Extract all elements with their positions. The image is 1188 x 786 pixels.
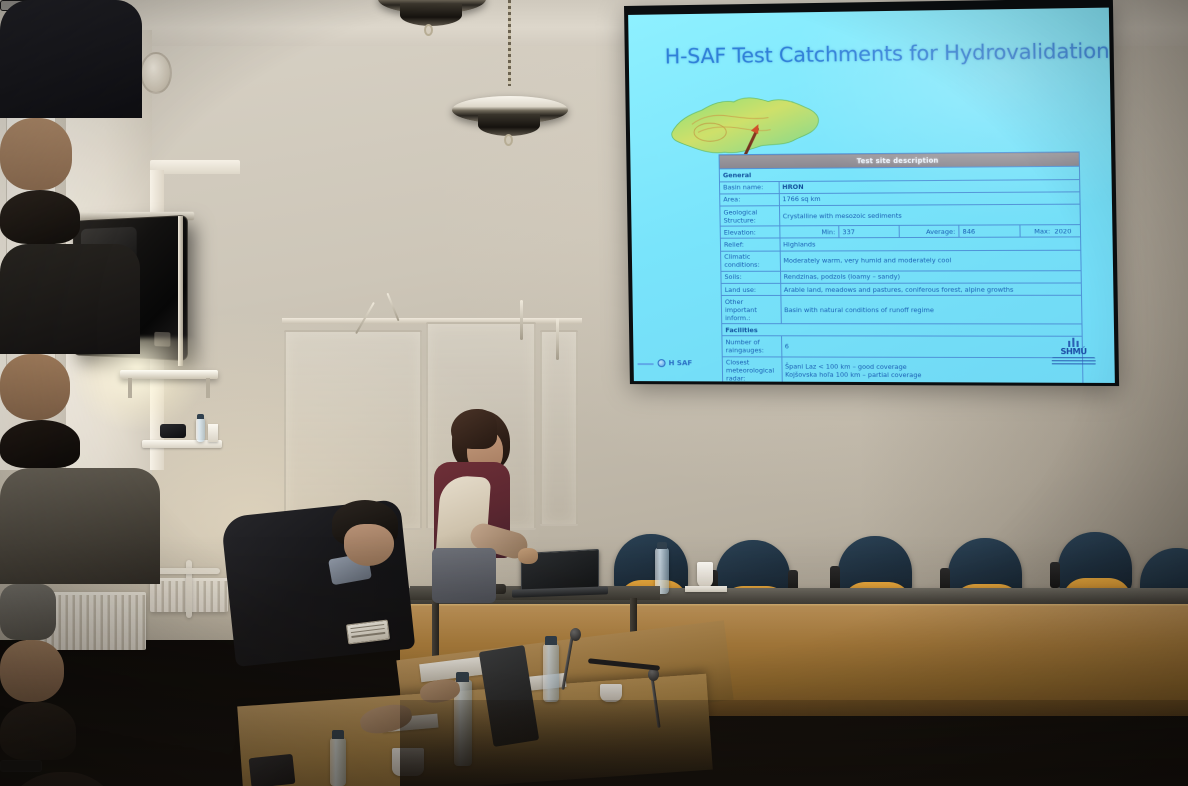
row-value: Crystalline with mesozoic sediments bbox=[779, 204, 1080, 226]
row-label: Area: bbox=[720, 193, 779, 206]
table-row: Closest meteorological radar: Špani Laz … bbox=[722, 356, 1083, 382]
presenter-fringe bbox=[451, 409, 497, 449]
attendee-face bbox=[0, 354, 70, 420]
row-label: Other important inform.: bbox=[721, 296, 781, 324]
row-label: Soils: bbox=[721, 271, 780, 283]
row-label: Number of raingauges: bbox=[722, 336, 781, 356]
shmu-mast-icon bbox=[1051, 338, 1095, 347]
attendee-hair bbox=[0, 420, 80, 468]
device bbox=[160, 424, 186, 438]
table-section-row: Facilities bbox=[722, 324, 1082, 337]
row-label: Climatic conditions: bbox=[721, 251, 780, 271]
row-value: Moderately warm, very humid and moderate… bbox=[780, 250, 1081, 271]
pendant-lamp-drop bbox=[424, 24, 433, 36]
pendant-lamp-bowl bbox=[400, 4, 462, 26]
row-label: Basin name: bbox=[719, 181, 778, 194]
lower-shading bbox=[0, 536, 1188, 786]
row-label: Relief: bbox=[720, 238, 779, 250]
attendee-body bbox=[0, 0, 142, 118]
elevation-max-label: Max: bbox=[1023, 227, 1054, 235]
row-value: Arable land, meadows and pastures, conif… bbox=[780, 283, 1081, 296]
attendee-face bbox=[0, 118, 72, 190]
row-label: Geological Structure: bbox=[720, 206, 779, 227]
wave-icon bbox=[1052, 357, 1096, 365]
logo-dash-icon bbox=[638, 363, 654, 365]
shmu-logo-text: SHMÚ bbox=[1052, 347, 1096, 356]
wall-rod bbox=[520, 300, 523, 340]
table-row: Climatic conditions: Moderately warm, ve… bbox=[721, 250, 1082, 271]
projection-screen: H-SAF Test Catchments for Hydrovalidatio… bbox=[624, 0, 1119, 386]
wall-panel bbox=[540, 330, 578, 526]
elevation-max: Max:2020 bbox=[1019, 225, 1080, 238]
bottle-cap bbox=[197, 414, 204, 419]
table-row: Other important inform.: Basin with natu… bbox=[721, 295, 1082, 324]
pendant-lamp-bowl bbox=[478, 114, 540, 136]
wall-rod bbox=[556, 318, 559, 360]
elevation-avg-value: 846 bbox=[959, 225, 1020, 238]
shelf-bracket bbox=[206, 378, 210, 398]
row-value: Basin with natural conditions of runoff … bbox=[780, 295, 1082, 324]
table-row: Relief: Highlands bbox=[720, 237, 1080, 251]
attendee-body bbox=[0, 244, 140, 354]
bottle bbox=[196, 418, 205, 442]
table-row: Soils: Rendzinas, podzols (loamy – sandy… bbox=[721, 270, 1081, 283]
elevation-min-label: Min: bbox=[779, 226, 839, 239]
hsaf-logo-text: H SAF bbox=[669, 359, 693, 367]
row-value: Highlands bbox=[779, 237, 1080, 250]
row-value: Špani Laz < 100 km – good coverage Kojšo… bbox=[781, 357, 1083, 383]
presentation-slide: H-SAF Test Catchments for Hydrovalidatio… bbox=[628, 8, 1115, 383]
test-site-table: Test site description General Basin name… bbox=[719, 151, 1084, 383]
lamp-cord bbox=[508, 0, 511, 86]
table-row: Number of raingauges: 6 bbox=[722, 336, 1083, 357]
globe-icon bbox=[658, 359, 666, 367]
elevation-min-value: 337 bbox=[839, 226, 899, 239]
pendant-lamp-drop bbox=[504, 134, 513, 146]
elevation-max-value: 2020 bbox=[1054, 227, 1071, 235]
attendee-hair bbox=[0, 190, 80, 244]
elevation-avg-label: Average: bbox=[899, 225, 959, 238]
wall-panel bbox=[284, 330, 422, 530]
table-row: Land use: Arable land, meadows and pastu… bbox=[721, 283, 1081, 296]
radar-line-2: Kojšovska hoľa 100 km – partial coverage bbox=[785, 371, 1079, 380]
row-label: Land use: bbox=[721, 283, 780, 295]
row-label: Closest meteorological radar: bbox=[722, 356, 782, 382]
shmu-logo: SHMÚ bbox=[1051, 338, 1095, 371]
table-row: Geological Structure: Crystalline with m… bbox=[720, 204, 1081, 226]
hsaf-logo: H SAF bbox=[658, 359, 693, 367]
row-label: Elevation: bbox=[720, 226, 779, 238]
row-value: 6 bbox=[781, 336, 1082, 357]
conference-room-photo: H-SAF Test Catchments for Hydrovalidatio… bbox=[0, 0, 1188, 786]
slide-title: H-SAF Test Catchments for Hydrovalidatio… bbox=[665, 39, 1095, 69]
box-item bbox=[208, 424, 218, 442]
section-facilities: Facilities bbox=[722, 324, 1082, 337]
row-value: Rendzinas, podzols (loamy – sandy) bbox=[780, 270, 1081, 283]
